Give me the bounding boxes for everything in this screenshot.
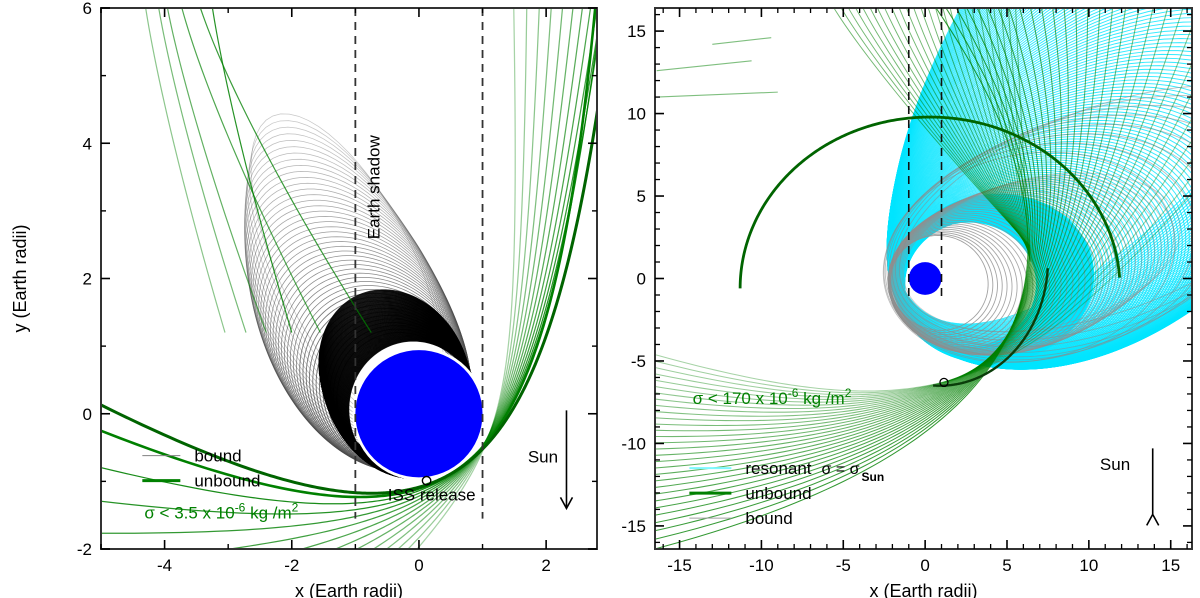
left-axes: -4-202-20246 bbox=[77, 0, 597, 575]
y-tick-label: -15 bbox=[621, 517, 646, 536]
x-tick-label: 15 bbox=[1161, 556, 1180, 575]
x-tick-label: 0 bbox=[414, 556, 423, 575]
legend-label-unbound: unbound bbox=[745, 484, 811, 503]
y-tick-label: 10 bbox=[627, 105, 646, 124]
right-plot-content bbox=[600, 0, 1200, 598]
earth-shadow-label: Earth shadow bbox=[365, 135, 384, 240]
iss-release-label: ISS release bbox=[388, 485, 476, 504]
x-tick-label: 2 bbox=[541, 556, 550, 575]
x-tick-label: -10 bbox=[749, 556, 774, 575]
y-tick-label: 15 bbox=[627, 22, 646, 41]
left-panel: -4-202-20246x (Earth radii)y (Earth radi… bbox=[0, 0, 600, 598]
x-tick-label: 10 bbox=[1079, 556, 1098, 575]
y-tick-label: 5 bbox=[637, 187, 646, 206]
earth-disk bbox=[909, 262, 942, 295]
y-tick-label: 4 bbox=[83, 134, 92, 153]
y-tick-label: -5 bbox=[631, 352, 646, 371]
x-tick-label: -5 bbox=[836, 556, 851, 575]
x-axis-title: x (Earth radii) bbox=[869, 581, 977, 598]
y-tick-label: 0 bbox=[637, 270, 646, 289]
right-panel: -15-10-5051015-15-10-5051015x (Earth rad… bbox=[600, 0, 1200, 598]
x-tick-label: -4 bbox=[157, 556, 172, 575]
legend-label-bound: bound bbox=[745, 509, 792, 528]
sigma-annotation: σ < 170 x 10-6 kg /m2 bbox=[693, 386, 852, 408]
y-tick-label: 0 bbox=[83, 405, 92, 424]
sun-label: Sun bbox=[1100, 455, 1130, 474]
y-axis-title: y (Earth radii) bbox=[10, 224, 30, 332]
y-tick-label: -2 bbox=[77, 540, 92, 559]
legend-label-unbound: unbound bbox=[194, 472, 260, 491]
earth-disk bbox=[355, 350, 482, 477]
y-tick-label: 6 bbox=[83, 0, 92, 18]
x-tick-label: -2 bbox=[284, 556, 299, 575]
sun-label: Sun bbox=[528, 447, 558, 466]
right-legend: resonantσ = σSununboundbound bbox=[689, 459, 884, 528]
y-tick-label: -10 bbox=[621, 434, 646, 453]
x-tick-label: -15 bbox=[667, 556, 692, 575]
left-plot-content bbox=[0, 0, 600, 598]
x-tick-label: 0 bbox=[920, 556, 929, 575]
x-tick-label: 5 bbox=[1002, 556, 1011, 575]
sun-arrow-head bbox=[1147, 514, 1159, 525]
x-axis-title: x (Earth radii) bbox=[295, 581, 403, 598]
legend-label-resonant: resonantσ = σSun bbox=[745, 459, 884, 484]
sigma-annotation: σ < 3.5 x 10-6 kg /m2 bbox=[144, 501, 298, 523]
y-tick-label: 2 bbox=[83, 270, 92, 289]
legend-label-bound: bound bbox=[194, 447, 241, 466]
figure-root: -4-202-20246x (Earth radii)y (Earth radi… bbox=[0, 0, 1200, 598]
